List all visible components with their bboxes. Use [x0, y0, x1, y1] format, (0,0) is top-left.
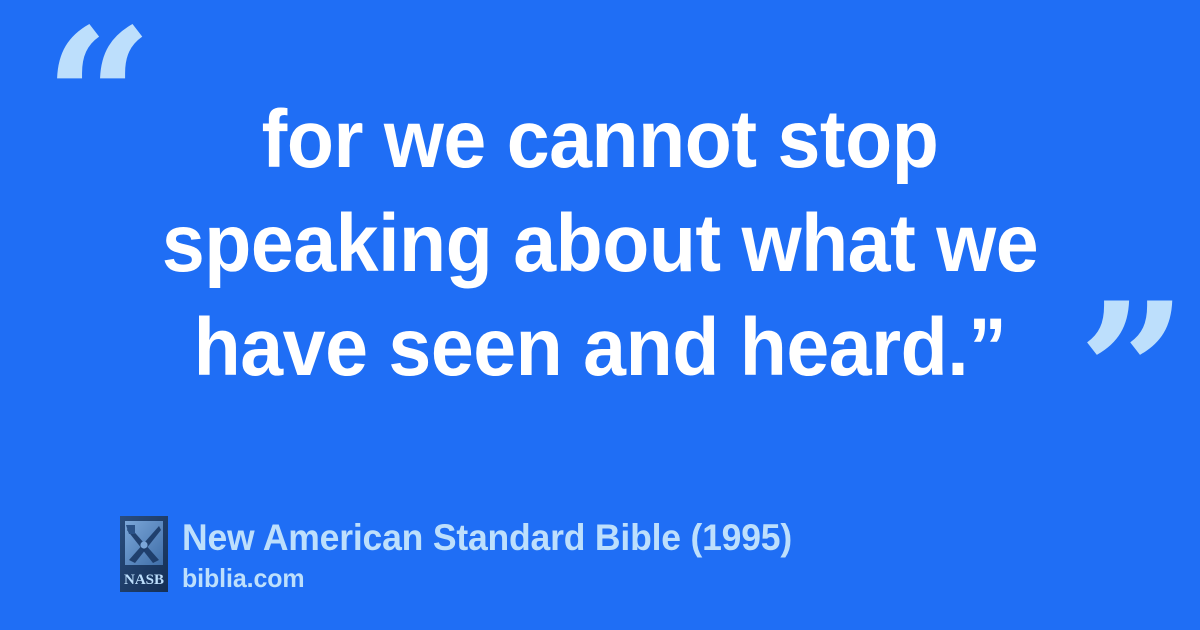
source-url[interactable]: biblia.com — [182, 562, 792, 594]
nasb-logo-icon: NASB — [120, 516, 168, 592]
quote-text-block: for we cannot stop speaking about what w… — [60, 88, 1140, 400]
quote-line-2: speaking about what we — [92, 192, 1107, 296]
attribution: NASB New American Standard Bible (1995) … — [120, 514, 817, 594]
source-title: New American Standard Bible (1995) — [182, 516, 792, 560]
nasb-logo-label: NASB — [124, 572, 164, 588]
verse-quote-card: “ for we cannot stop speaking about what… — [0, 0, 1200, 630]
closing-quote-icon: ” — [1078, 278, 1187, 468]
attribution-text: New American Standard Bible (1995) bibli… — [182, 514, 817, 594]
quote-line-3: have seen and heard.” — [92, 296, 1107, 400]
quote-line-1: for we cannot stop — [92, 88, 1107, 192]
